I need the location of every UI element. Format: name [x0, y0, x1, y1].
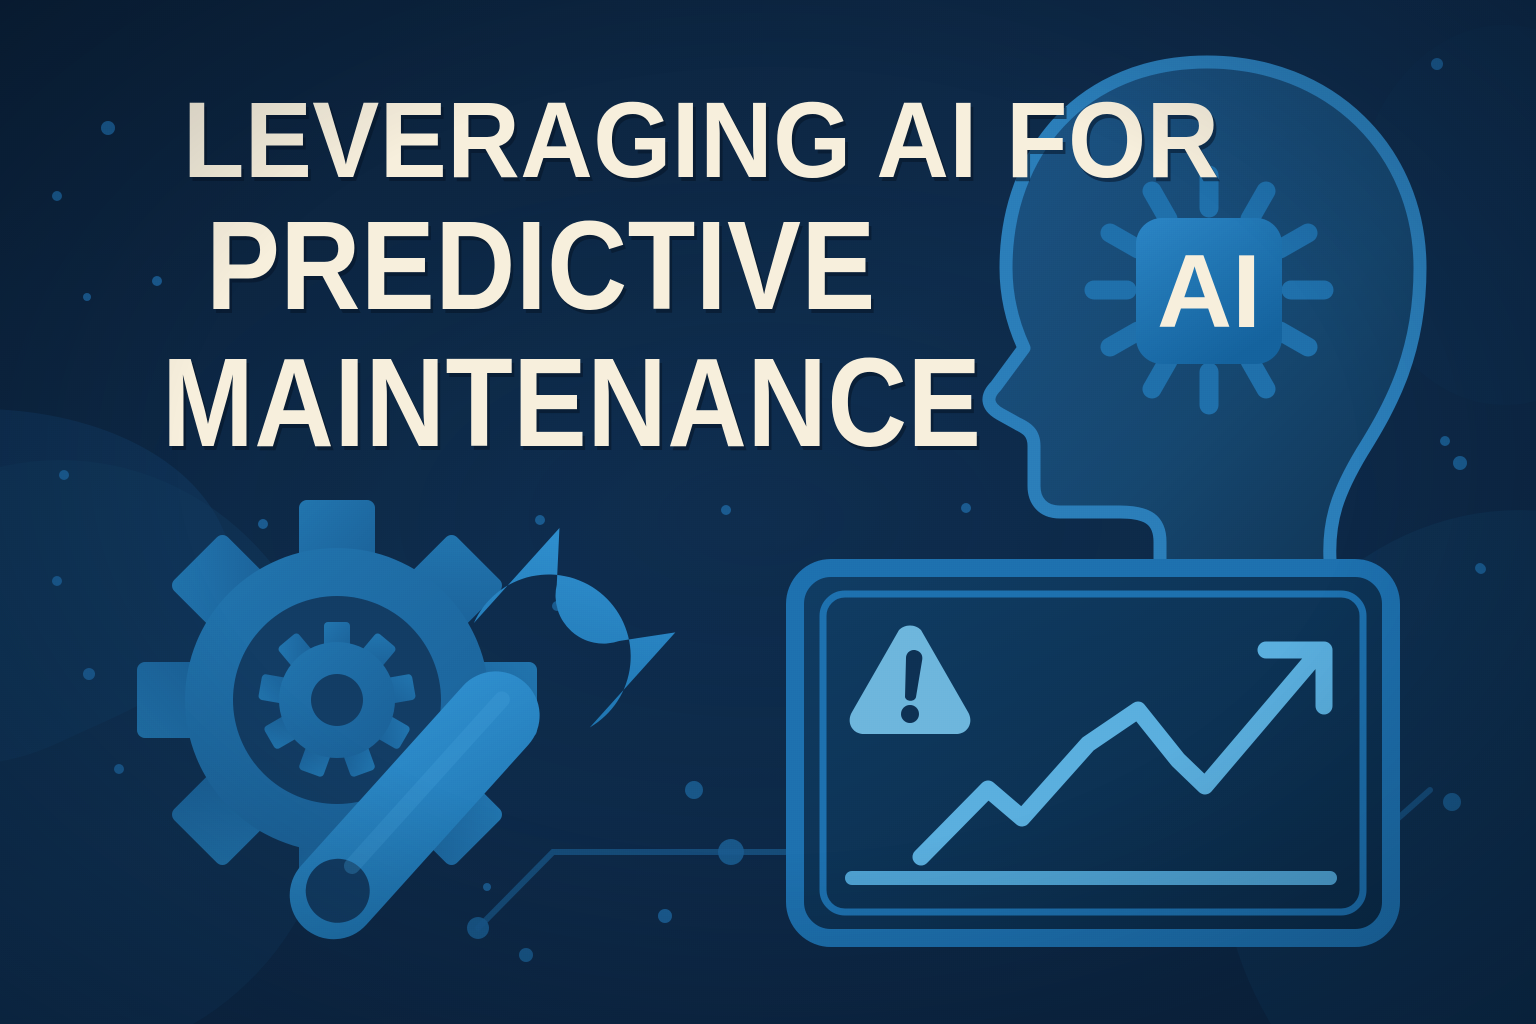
illustration-layer: AI	[0, 0, 1536, 1024]
ai-chip-label: AI	[1157, 234, 1261, 350]
ai-head-profile: AI	[989, 62, 1420, 600]
poster-canvas: AI LEVERAGING AI FOR PREDICTIVE MAINTEN	[0, 0, 1536, 1024]
monitor-trend-chart	[795, 568, 1391, 938]
gear-and-wrench	[137, 500, 678, 983]
